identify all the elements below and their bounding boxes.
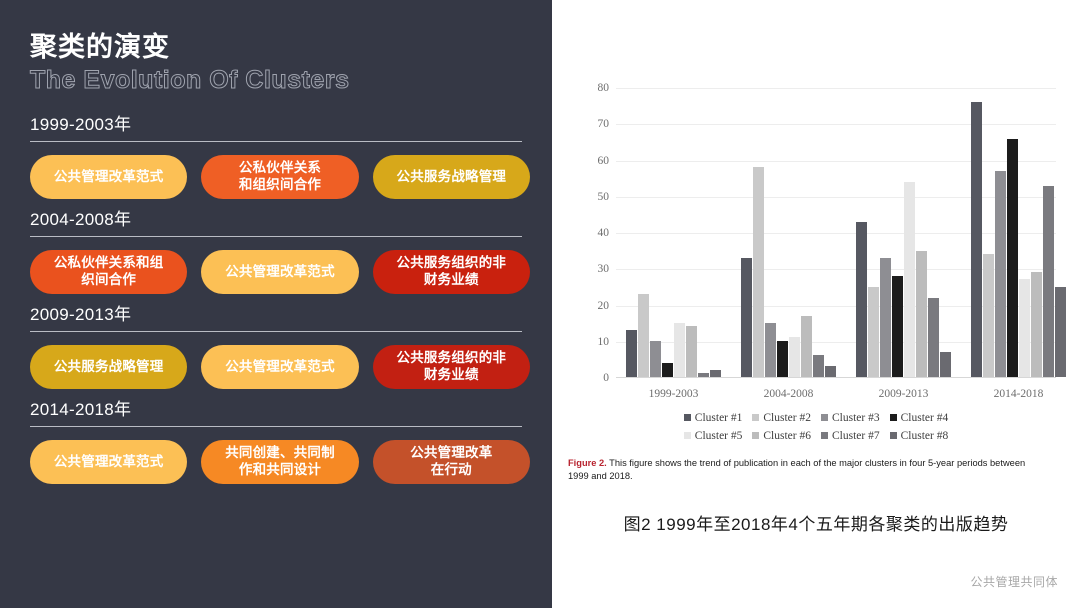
chart-bar: [650, 341, 661, 377]
chart-bar-group: 2004-2008: [731, 88, 846, 377]
chart-bar: [789, 337, 800, 377]
page-title-en: The Evolution Of Clusters: [30, 65, 530, 96]
period-divider: [30, 331, 522, 332]
chart-bar: [1043, 186, 1054, 377]
period-pill-row: 公共服务战略管理公共管理改革范式公共服务组织的非财务业绩: [30, 345, 530, 389]
chart-bar: [741, 258, 752, 377]
period-divider: [30, 236, 522, 237]
chart-bar: [662, 363, 673, 377]
watermark: 公共管理共同体: [970, 573, 1058, 590]
figure-caption-en: Figure 2. This figure shows the trend of…: [568, 457, 1042, 483]
left-panel: 聚类的演变 The Evolution Of Clusters 1999-200…: [0, 0, 556, 608]
chart-legend-label: Cluster #6: [763, 430, 811, 442]
periods-container: 1999-2003年公共管理改革范式公私伙伴关系和组织间合作公共服务战略管理20…: [30, 110, 530, 484]
chart-bar: [1019, 279, 1030, 377]
cluster-pill[interactable]: 公共管理改革范式: [201, 250, 358, 294]
chart-bar: [940, 352, 951, 377]
chart-bar: [753, 167, 764, 377]
period-block: 2014-2018年公共管理改革范式共同创建、共同制作和共同设计公共管理改革在行…: [30, 395, 530, 484]
period-heading: 1999-2003年: [30, 110, 530, 141]
chart-x-tick-label: 1999-2003: [616, 388, 731, 400]
chart-bar: [880, 258, 891, 377]
chart-y-tick-label: 70: [598, 118, 610, 130]
cluster-pill[interactable]: 公共服务组织的非财务业绩: [373, 345, 530, 389]
legend-swatch-icon: [684, 414, 691, 421]
chart-bar: [904, 182, 915, 377]
figure-caption-cn: 图2 1999年至2018年4个五年期各聚类的出版趋势: [566, 510, 1066, 535]
chart-legend-label: Cluster #5: [695, 430, 743, 442]
chart-bar: [777, 341, 788, 377]
cluster-pill[interactable]: 公私伙伴关系和组织间合作: [30, 250, 187, 294]
chart-y-tick-label: 20: [598, 300, 610, 312]
figure-caption-body: This figure shows the trend of publicati…: [568, 458, 1025, 481]
period-divider: [30, 426, 522, 427]
legend-swatch-icon: [684, 432, 691, 439]
chart-y-tick-label: 50: [598, 191, 610, 203]
chart-y-tick-label: 60: [598, 155, 610, 167]
chart-bar-groups: 1999-20032004-20082009-20132014-2018: [616, 88, 1056, 377]
chart-legend-label: Cluster #2: [763, 412, 811, 424]
chart-y-tick-label: 30: [598, 263, 610, 275]
chart-bar: [983, 254, 994, 377]
chart-bar: [626, 330, 637, 377]
legend-swatch-icon: [890, 414, 897, 421]
chart-x-tick-label: 2014-2018: [961, 388, 1076, 400]
cluster-pill[interactable]: 公私伙伴关系和组织间合作: [201, 155, 358, 199]
period-pill-row: 公共管理改革范式共同创建、共同制作和共同设计公共管理改革在行动: [30, 440, 530, 484]
chart-bar: [892, 276, 903, 377]
chart-bar: [1055, 287, 1066, 377]
chart-bar: [916, 251, 927, 377]
chart-bar: [868, 287, 879, 377]
chart-bar: [813, 355, 824, 377]
chart-bar-group: 2009-2013: [846, 88, 961, 377]
chart-bar: [674, 323, 685, 377]
cluster-pill[interactable]: 共同创建、共同制作和共同设计: [201, 440, 358, 484]
legend-swatch-icon: [821, 432, 828, 439]
legend-swatch-icon: [821, 414, 828, 421]
chart-bar: [1007, 139, 1018, 377]
chart-bar: [686, 326, 697, 377]
period-heading: 2009-2013年: [30, 300, 530, 331]
chart-bar: [765, 323, 776, 377]
chart-bar: [801, 316, 812, 377]
chart-legend-row: Cluster #5Cluster #6Cluster #7Cluster #8: [566, 428, 1066, 446]
chart-x-axis-line: [616, 377, 1056, 378]
period-block: 2004-2008年公私伙伴关系和组织间合作公共管理改革范式公共服务组织的非财务…: [30, 205, 530, 294]
chart-y-tick-label: 80: [598, 82, 610, 94]
chart-legend-label: Cluster #8: [901, 430, 949, 442]
chart-legend-item: Cluster #8: [890, 428, 949, 446]
cluster-pill[interactable]: 公共管理改革在行动: [373, 440, 530, 484]
cluster-pill[interactable]: 公共服务组织的非财务业绩: [373, 250, 530, 294]
cluster-pill[interactable]: 公共管理改革范式: [30, 440, 187, 484]
chart-legend-item: Cluster #2: [752, 410, 811, 428]
chart-y-tick-label: 10: [598, 336, 610, 348]
cluster-pill[interactable]: 公共服务战略管理: [373, 155, 530, 199]
period-pill-row: 公私伙伴关系和组织间合作公共管理改革范式公共服务组织的非财务业绩: [30, 250, 530, 294]
legend-swatch-icon: [752, 414, 759, 421]
cluster-pill[interactable]: 公共管理改革范式: [201, 345, 358, 389]
period-heading: 2004-2008年: [30, 205, 530, 236]
chart-bar-group: 1999-2003: [616, 88, 731, 377]
chart-x-tick-label: 2009-2013: [846, 388, 961, 400]
chart-bar: [995, 171, 1006, 377]
cluster-pill[interactable]: 公共管理改革范式: [30, 155, 187, 199]
chart-bar: [928, 298, 939, 377]
chart-bar: [825, 366, 836, 377]
chart-legend-item: Cluster #3: [821, 410, 880, 428]
chart-legend-item: Cluster #1: [684, 410, 743, 428]
chart-x-tick-label: 2004-2008: [731, 388, 846, 400]
chart-legend-label: Cluster #4: [901, 412, 949, 424]
period-block: 2009-2013年公共服务战略管理公共管理改革范式公共服务组织的非财务业绩: [30, 300, 530, 389]
chart-bar: [971, 102, 982, 377]
cluster-pill[interactable]: 公共服务战略管理: [30, 345, 187, 389]
chart-legend-item: Cluster #4: [890, 410, 949, 428]
page-title-cn: 聚类的演变: [30, 32, 530, 63]
legend-swatch-icon: [752, 432, 759, 439]
slide-root: 聚类的演变 The Evolution Of Clusters 1999-200…: [0, 0, 1080, 608]
chart-bar: [638, 294, 649, 377]
chart-legend: Cluster #1Cluster #2Cluster #3Cluster #4…: [566, 410, 1066, 446]
period-block: 1999-2003年公共管理改革范式公私伙伴关系和组织间合作公共服务战略管理: [30, 110, 530, 199]
period-heading: 2014-2018年: [30, 395, 530, 426]
chart-legend-item: Cluster #6: [752, 428, 811, 446]
chart-bar: [1031, 272, 1042, 377]
chart-legend-label: Cluster #7: [832, 430, 880, 442]
chart-legend-label: Cluster #3: [832, 412, 880, 424]
chart-plot-area: 01020304050607080 1999-20032004-20082009…: [616, 88, 1056, 378]
period-pill-row: 公共管理改革范式公私伙伴关系和组织间合作公共服务战略管理: [30, 155, 530, 199]
chart-legend-label: Cluster #1: [695, 412, 743, 424]
chart-bar-group: 2014-2018: [961, 88, 1076, 377]
chart-legend-item: Cluster #7: [821, 428, 880, 446]
figure-label: Figure 2.: [568, 458, 607, 468]
chart-legend-row: Cluster #1Cluster #2Cluster #3Cluster #4: [566, 410, 1066, 428]
bar-chart: 01020304050607080 1999-20032004-20082009…: [566, 72, 1066, 412]
chart-y-tick-label: 0: [603, 372, 609, 384]
legend-swatch-icon: [890, 432, 897, 439]
period-divider: [30, 141, 522, 142]
chart-y-tick-label: 40: [598, 227, 610, 239]
right-panel: 01020304050607080 1999-20032004-20082009…: [556, 0, 1080, 608]
chart-bar: [856, 222, 867, 377]
chart-bar: [710, 370, 721, 377]
chart-legend-item: Cluster #5: [684, 428, 743, 446]
